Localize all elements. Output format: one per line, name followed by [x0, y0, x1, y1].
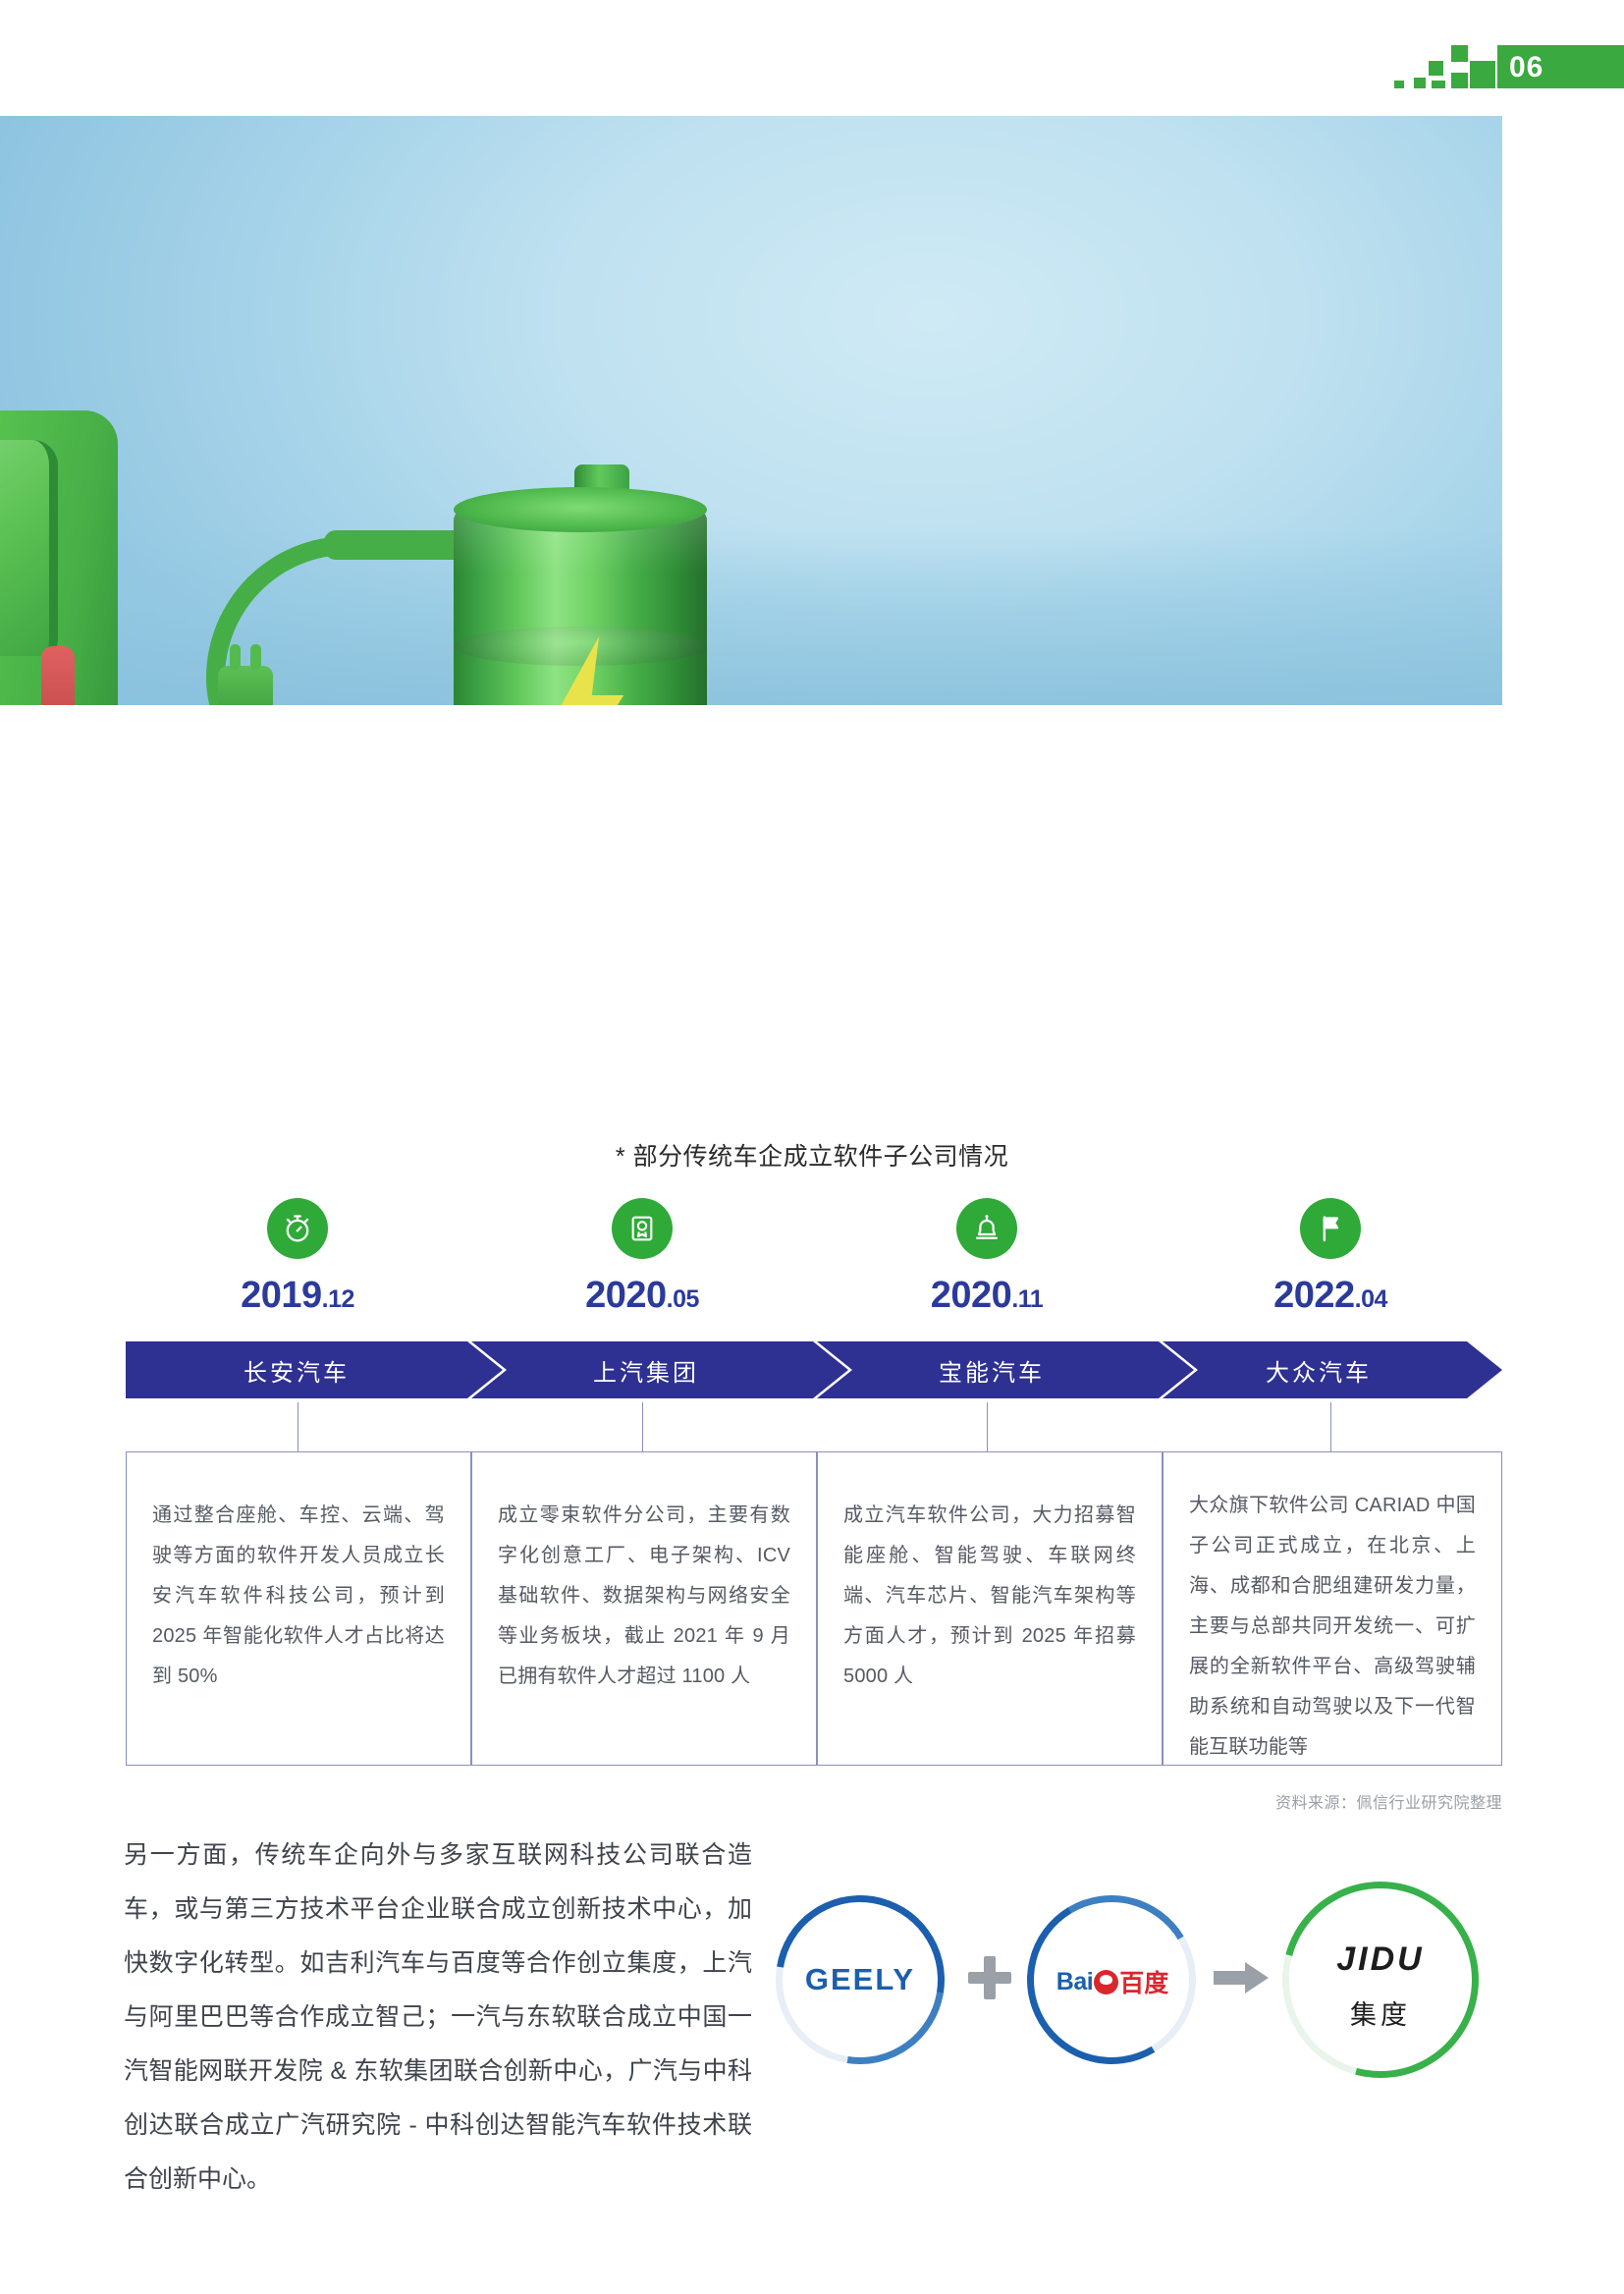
jidu-logo-cn: 集度	[1312, 1994, 1449, 2027]
banner-label-2: 宝能汽车	[939, 1353, 1045, 1388]
battery-ring	[454, 627, 707, 666]
document-badge-icon	[612, 1198, 673, 1259]
description-text-0: 通过整合座舱、车控、云端、驾驶等方面的软件开发人员成立长安汽车软件科技公司，预计…	[127, 1452, 470, 1697]
description-text-1: 成立零束软件分公司，主要有数字化创意工厂、电子架构、ICV 基础软件、数据架构与…	[472, 1452, 816, 1697]
baidu-paw-icon	[1094, 1970, 1118, 1994]
page-header: 06	[0, 0, 1624, 118]
body-paragraph: 另一方面，传统车企向外与多家互联网科技公司联合造车，或与第三方技术平台企业联合成…	[124, 1829, 752, 2207]
pixel-decoration-5	[1414, 78, 1426, 88]
pixel-decoration-2	[1451, 73, 1468, 88]
description-box-0: 通过整合座舱、车控、云端、驾驶等方面的软件开发人员成立长安汽车软件科技公司，预计…	[126, 1451, 471, 1766]
car-taillight-illustration	[41, 646, 75, 705]
pixel-decoration-1	[1470, 61, 1495, 88]
page-number: 06	[1509, 49, 1597, 86]
timeline-date-3: 2022.04	[1159, 1275, 1502, 1317]
timeline-stem-1	[642, 1402, 643, 1453]
car-window-illustration	[0, 440, 58, 656]
timeline-stem-2	[987, 1402, 988, 1453]
pixel-decoration-7	[1394, 81, 1404, 88]
banner-label-1: 上汽集团	[593, 1353, 699, 1388]
source-attribution: 资料来源：佩信行业研究院整理	[1275, 1789, 1502, 1813]
baidu-logo-cn: 百度	[1119, 1964, 1168, 1999]
jidu-wordmark: JIDU	[1312, 1940, 1449, 1984]
company-banner: 长安汽车 上汽集团 宝能汽车 大众汽车	[126, 1341, 1502, 1398]
timeline-stem-3	[1330, 1402, 1331, 1453]
bell-icon	[956, 1198, 1017, 1259]
timeline-date-0: 2019.12	[126, 1275, 469, 1317]
arrow-right-icon	[1214, 1962, 1269, 1994]
banner-label-0: 长安汽车	[244, 1353, 350, 1388]
description-text-2: 成立汽车软件公司，大力招募智能座舱、智能驾驶、车联网终端、汽车芯片、智能汽车架构…	[818, 1452, 1162, 1697]
description-boxes: 通过整合座舱、车控、云端、驾驶等方面的软件开发人员成立长安汽车软件科技公司，预计…	[126, 1451, 1502, 1766]
flag-icon	[1300, 1198, 1361, 1259]
partnership-logos: GEELY Bai百度 JIDU 集度	[776, 1895, 1522, 2141]
battery-top	[454, 487, 707, 532]
description-text-3: 大众旗下软件公司 CARIAD 中国子公司正式成立，在北京、上海、成都和合肥组建…	[1164, 1452, 1501, 1768]
geely-logo-text: GEELY	[784, 1956, 937, 2003]
timeline-stem-0	[298, 1402, 298, 1453]
plus-icon	[968, 1956, 1011, 1999]
hero-image	[0, 116, 1502, 705]
banner-segment-1[interactable]: 上汽集团	[471, 1341, 848, 1398]
pixel-decoration-4	[1429, 61, 1443, 76]
baidu-logo: Bai百度	[1039, 1964, 1186, 1999]
description-box-2: 成立汽车软件公司，大力招募智能座舱、智能驾驶、车联网终端、汽车芯片、智能汽车架构…	[817, 1451, 1163, 1766]
chart-title: * 部分传统车企成立软件子公司情况	[0, 1137, 1624, 1173]
timeline-date-1: 2020.05	[470, 1275, 814, 1317]
description-box-1: 成立零束软件分公司，主要有数字化创意工厂、电子架构、ICV 基础软件、数据架构与…	[471, 1451, 817, 1766]
description-box-3: 大众旗下软件公司 CARIAD 中国子公司正式成立，在北京、上海、成都和合肥组建…	[1163, 1451, 1502, 1766]
banner-label-3: 大众汽车	[1266, 1353, 1372, 1388]
pixel-decoration-3	[1451, 45, 1468, 62]
banner-segment-0[interactable]: 长安汽车	[126, 1341, 503, 1398]
timeline-date-2: 2020.11	[815, 1275, 1159, 1317]
banner-segment-2[interactable]: 宝能汽车	[817, 1341, 1194, 1398]
pixel-decoration-6	[1432, 81, 1445, 88]
charging-plug-icon	[218, 666, 273, 705]
baidu-logo-en: Bai	[1056, 1968, 1093, 1996]
stopwatch-icon	[267, 1198, 328, 1259]
banner-segment-3[interactable]: 大众汽车	[1163, 1341, 1502, 1398]
report-page: 06 * 部分传统车企成立软件子公司情况	[0, 0, 1624, 2294]
